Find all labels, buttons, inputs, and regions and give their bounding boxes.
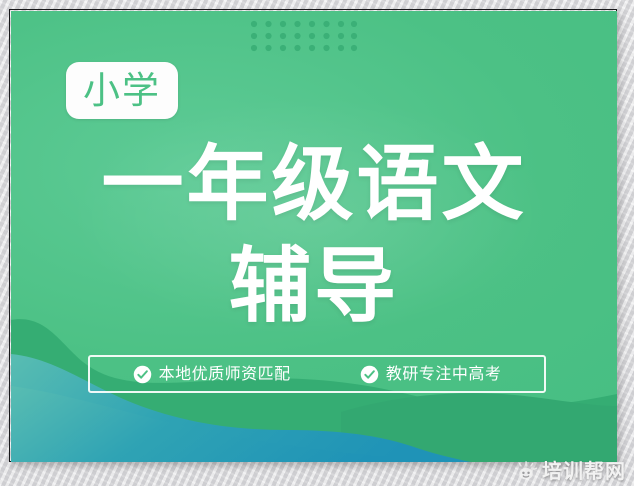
feature-item: 本地优质师资匹配 (133, 365, 291, 384)
feature-label: 教研专注中高考 (386, 366, 502, 382)
grade-level-badge-label: 小学 (83, 72, 161, 109)
check-circle-icon (360, 365, 379, 384)
smiley-sun-icon (515, 460, 537, 482)
feature-item: 教研专注中高考 (360, 365, 502, 384)
page-background: 小学 一年级语文 辅导 (0, 0, 634, 486)
watermark: 培训帮网 (511, 458, 630, 484)
grade-level-badge: 小学 (66, 62, 178, 119)
poster-title-line-1: 一年级语文 (11, 144, 617, 226)
check-circle-icon (133, 365, 152, 384)
poster-card: 小学 一年级语文 辅导 (11, 11, 617, 462)
watermark-text: 培训帮网 (542, 461, 626, 481)
feature-label: 本地优质师资匹配 (159, 366, 291, 382)
feature-list: 本地优质师资匹配 教研专注中高考 (88, 355, 546, 393)
dot-grid-icon (250, 20, 358, 52)
